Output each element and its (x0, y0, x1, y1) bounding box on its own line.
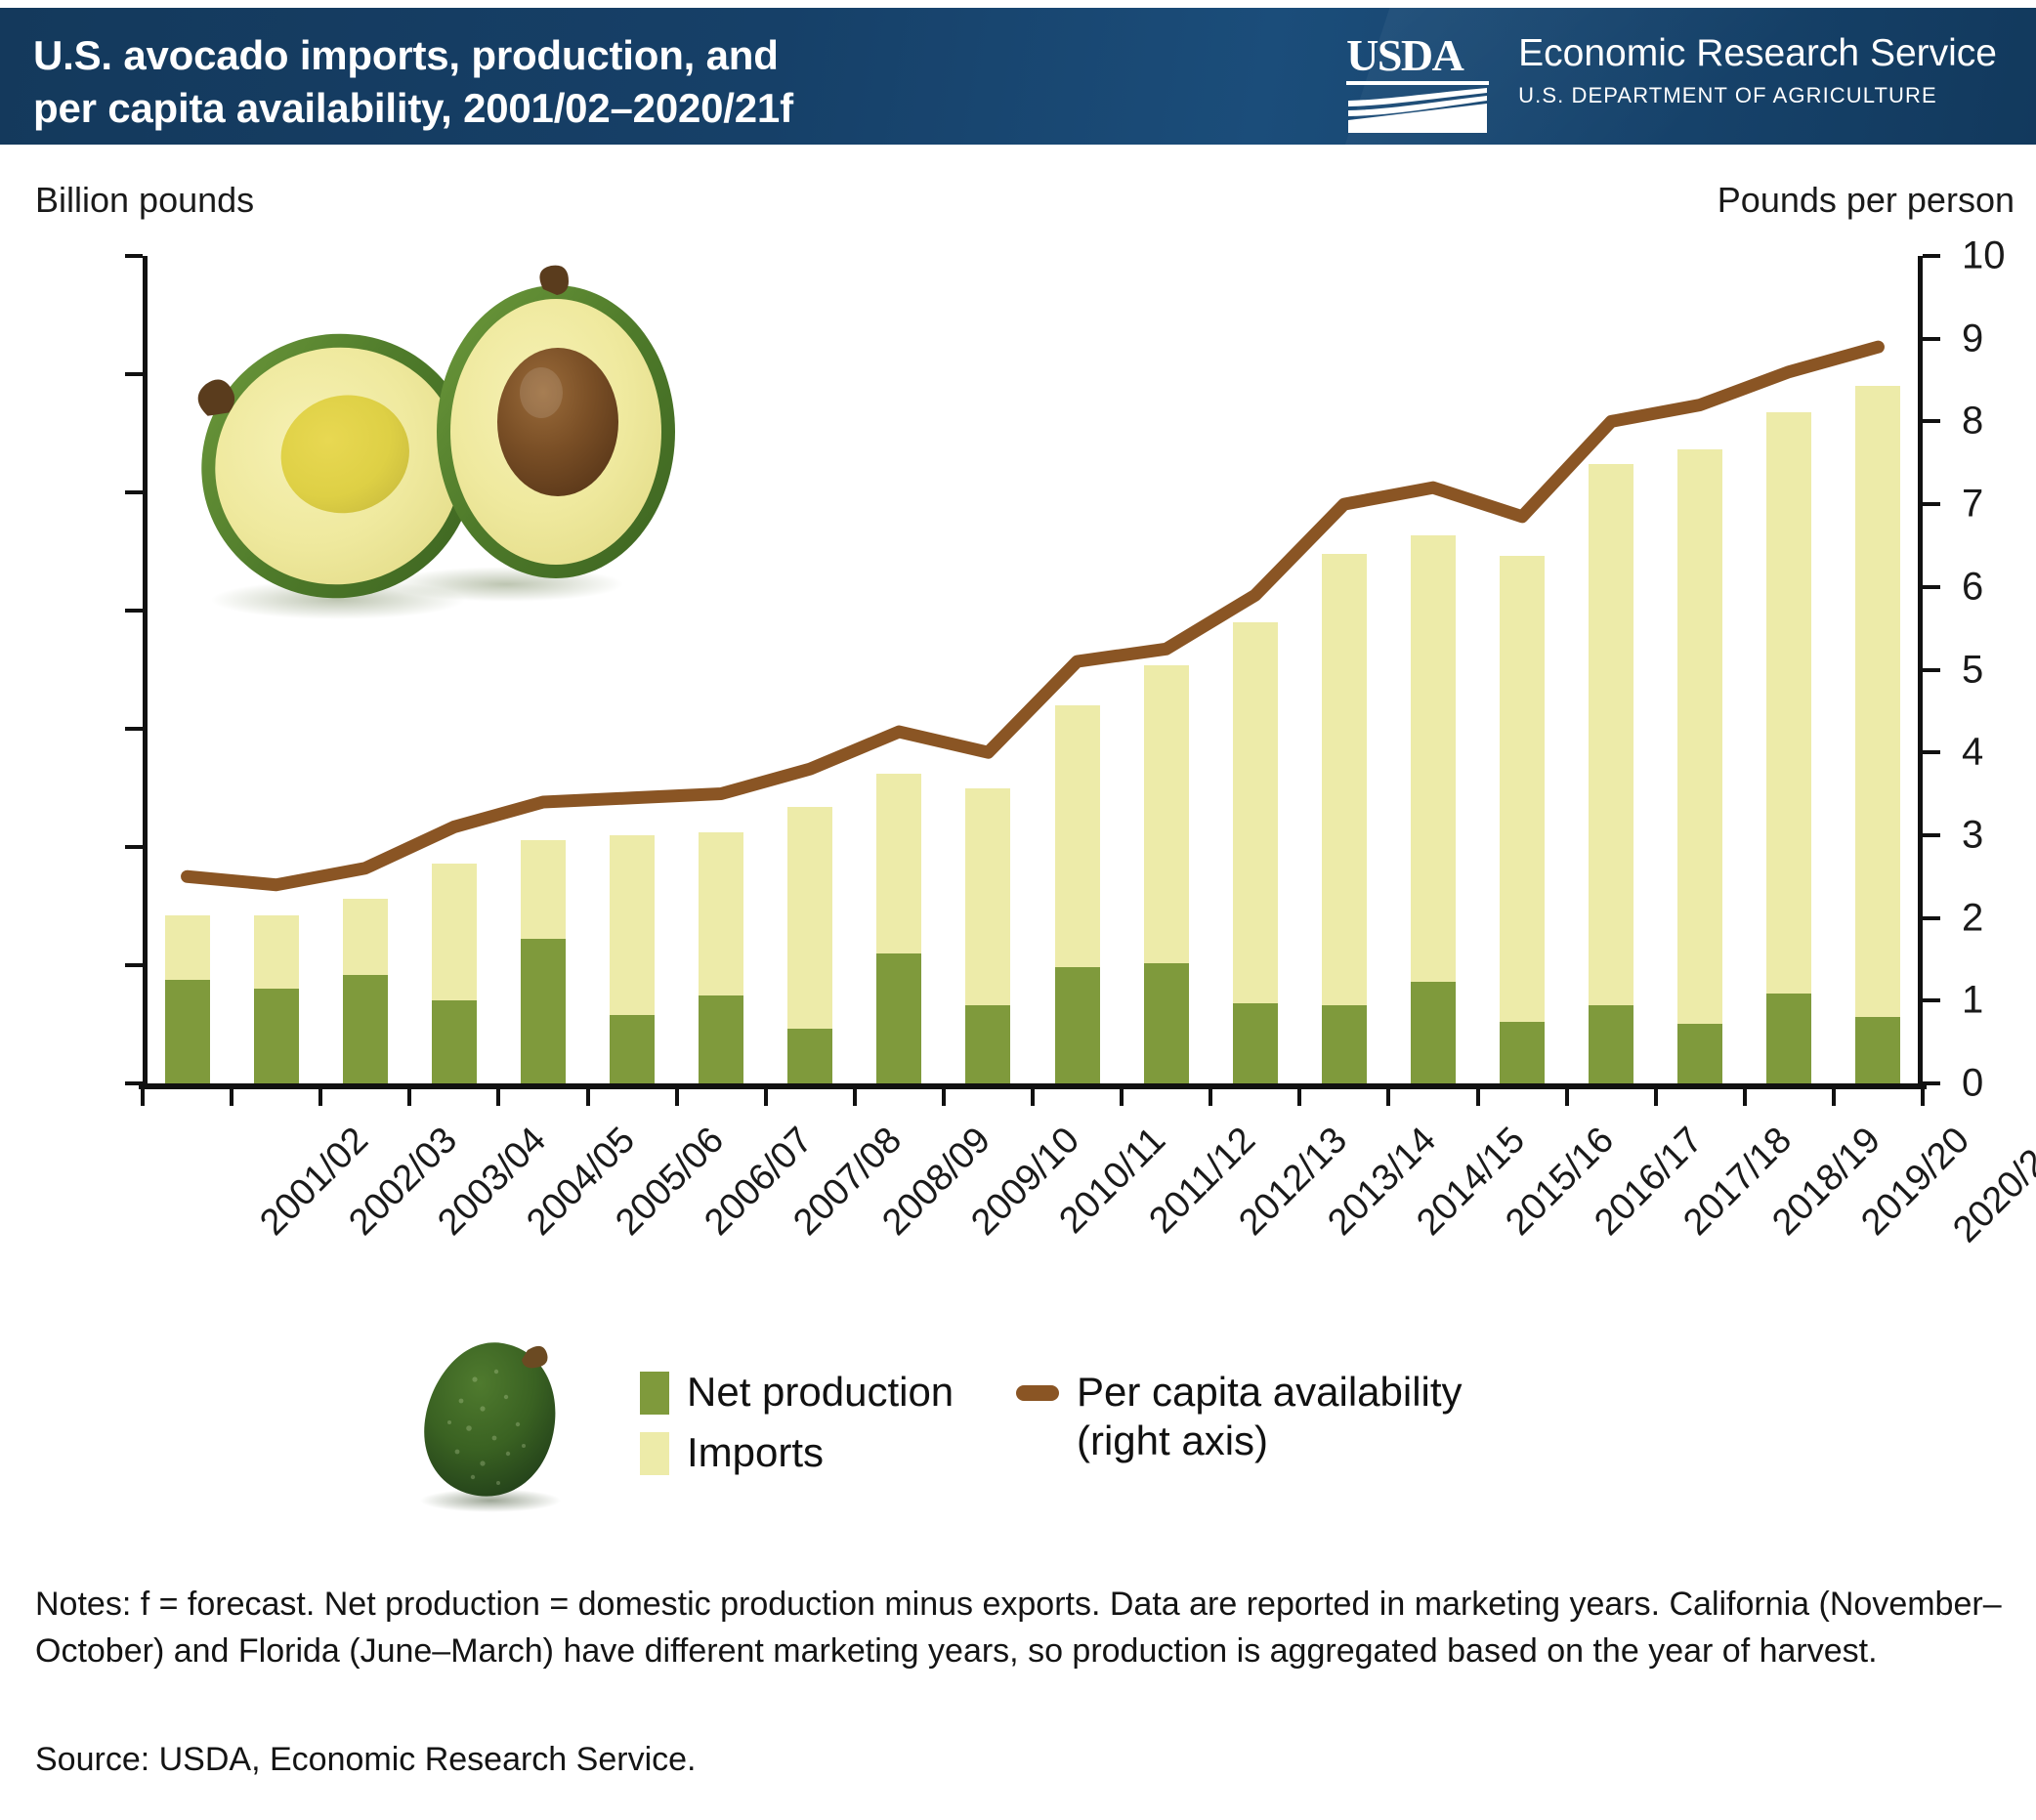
per-capita-availability-line (143, 256, 1923, 1087)
x-axis-tick (1565, 1088, 1569, 1106)
x-axis-tick (318, 1088, 322, 1106)
left-axis-tick (125, 845, 143, 849)
x-axis-tick (1743, 1088, 1747, 1106)
green-swatch-icon (640, 1372, 669, 1415)
right-axis-tick-label: 4 (1962, 731, 2036, 775)
right-axis-tick-label: 9 (1962, 317, 2036, 360)
left-axis-tick (125, 1081, 143, 1085)
left-axis-tick (125, 490, 143, 494)
page-title-line-1: U.S. avocado imports, production, and (33, 29, 1186, 82)
x-axis-tick (141, 1088, 145, 1106)
left-axis-tick (125, 727, 143, 731)
legend-bar-items: Net production Imports (640, 1368, 954, 1488)
x-axis-tick (1120, 1088, 1124, 1106)
legend-item-imports[interactable]: Imports (640, 1428, 954, 1477)
left-axis-tick (125, 963, 143, 967)
legend-label-per-capita-line-2: (right axis) (1077, 1417, 1463, 1465)
chart-page: U.S. avocado imports, production, and pe… (0, 0, 2036, 1820)
right-axis-tick (1923, 337, 1940, 341)
right-axis-tick-label: 2 (1962, 896, 2036, 940)
page-title-line-2: per capita availability, 2001/02–2020/21… (33, 82, 1186, 135)
right-axis-tick-label: 5 (1962, 648, 2036, 692)
right-axis-tick-label: 8 (1962, 400, 2036, 444)
right-axis-caption: Pounds per person (1718, 180, 2015, 221)
right-axis-tick (1923, 419, 1940, 423)
chart-legend: Net production Imports Per capita availa… (391, 1338, 1759, 1524)
right-axis-tick-label: 0 (1962, 1062, 2036, 1106)
right-axis-tick-label: 6 (1962, 565, 2036, 609)
left-axis-tick (125, 609, 143, 613)
x-axis-tick (407, 1088, 411, 1106)
x-axis-tick-labels: 2001/022002/032003/042004/052005/062006/… (143, 1110, 1930, 1334)
x-axis-tick (853, 1088, 857, 1106)
x-axis-tick (942, 1088, 946, 1106)
x-axis-tick (1832, 1088, 1836, 1106)
chart-plot-area: 0.51.01.52.02.53.03.5012345678910 (143, 256, 1923, 1086)
right-axis-tick-label: 3 (1962, 813, 2036, 857)
right-axis-tick (1923, 502, 1940, 506)
right-axis-tick (1923, 998, 1940, 1002)
usda-logo-icon: USDA (1346, 33, 1493, 127)
left-axis-caption: Billion pounds (35, 180, 254, 221)
legend-item-net-production[interactable]: Net production (640, 1368, 954, 1417)
right-axis-tick (1923, 750, 1940, 754)
x-axis-tick (230, 1088, 233, 1106)
right-axis-tick (1923, 916, 1940, 920)
usda-wordmark: USDA (1346, 33, 1493, 78)
right-axis-tick (1923, 585, 1940, 589)
x-axis-tick (1031, 1088, 1035, 1106)
left-axis-tick (125, 372, 143, 376)
right-axis-tick-label: 7 (1962, 483, 2036, 527)
right-axis-tick (1923, 833, 1940, 837)
legend-label-net-production: Net production (687, 1368, 954, 1417)
x-axis-tick (764, 1088, 768, 1106)
agency-name: Economic Research Service (1518, 33, 1997, 75)
x-axis-tick (1297, 1088, 1301, 1106)
x-axis-tick (1476, 1088, 1480, 1106)
right-axis-tick (1923, 254, 1940, 258)
usda-agency-text: Economic Research Service U.S. DEPARTMEN… (1518, 33, 1997, 108)
usda-field-furrow-icon (1346, 87, 1489, 134)
x-axis-tick (1921, 1088, 1925, 1106)
whole-avocado-icon (381, 1329, 606, 1514)
chart-source: Source: USDA, Economic Research Service. (35, 1741, 696, 1779)
usda-logo-rule (1346, 81, 1489, 85)
legend-label-imports: Imports (687, 1428, 824, 1477)
left-axis-tick (125, 254, 143, 258)
right-axis-tick-label: 10 (1962, 234, 2036, 278)
cream-swatch-icon (640, 1432, 669, 1475)
x-axis-tick (1209, 1088, 1212, 1106)
header-band: U.S. avocado imports, production, and pe… (0, 8, 2036, 145)
x-axis-tick (586, 1088, 590, 1106)
x-axis-tick (1386, 1088, 1390, 1106)
legend-line-item[interactable]: Per capita availability (right axis) (1016, 1368, 1463, 1476)
department-name: U.S. DEPARTMENT OF AGRICULTURE (1518, 83, 1997, 108)
usda-branding: USDA Economic Research Service U.S. DEPA… (1346, 33, 1997, 127)
right-axis-tick-label: 1 (1962, 979, 2036, 1023)
x-axis-tick (496, 1088, 500, 1106)
x-axis-tick (675, 1088, 679, 1106)
chart-notes: Notes: f = forecast. Net production = do… (35, 1581, 2007, 1675)
brown-line-swatch-icon (1016, 1385, 1059, 1401)
right-axis-tick (1923, 1081, 1940, 1085)
right-axis-tick (1923, 668, 1940, 672)
page-title: U.S. avocado imports, production, and pe… (33, 29, 1186, 135)
legend-label-per-capita-line-1: Per capita availability (1077, 1368, 1463, 1417)
legend-label-per-capita: Per capita availability (right axis) (1077, 1368, 1463, 1464)
x-axis-tick (1654, 1088, 1658, 1106)
